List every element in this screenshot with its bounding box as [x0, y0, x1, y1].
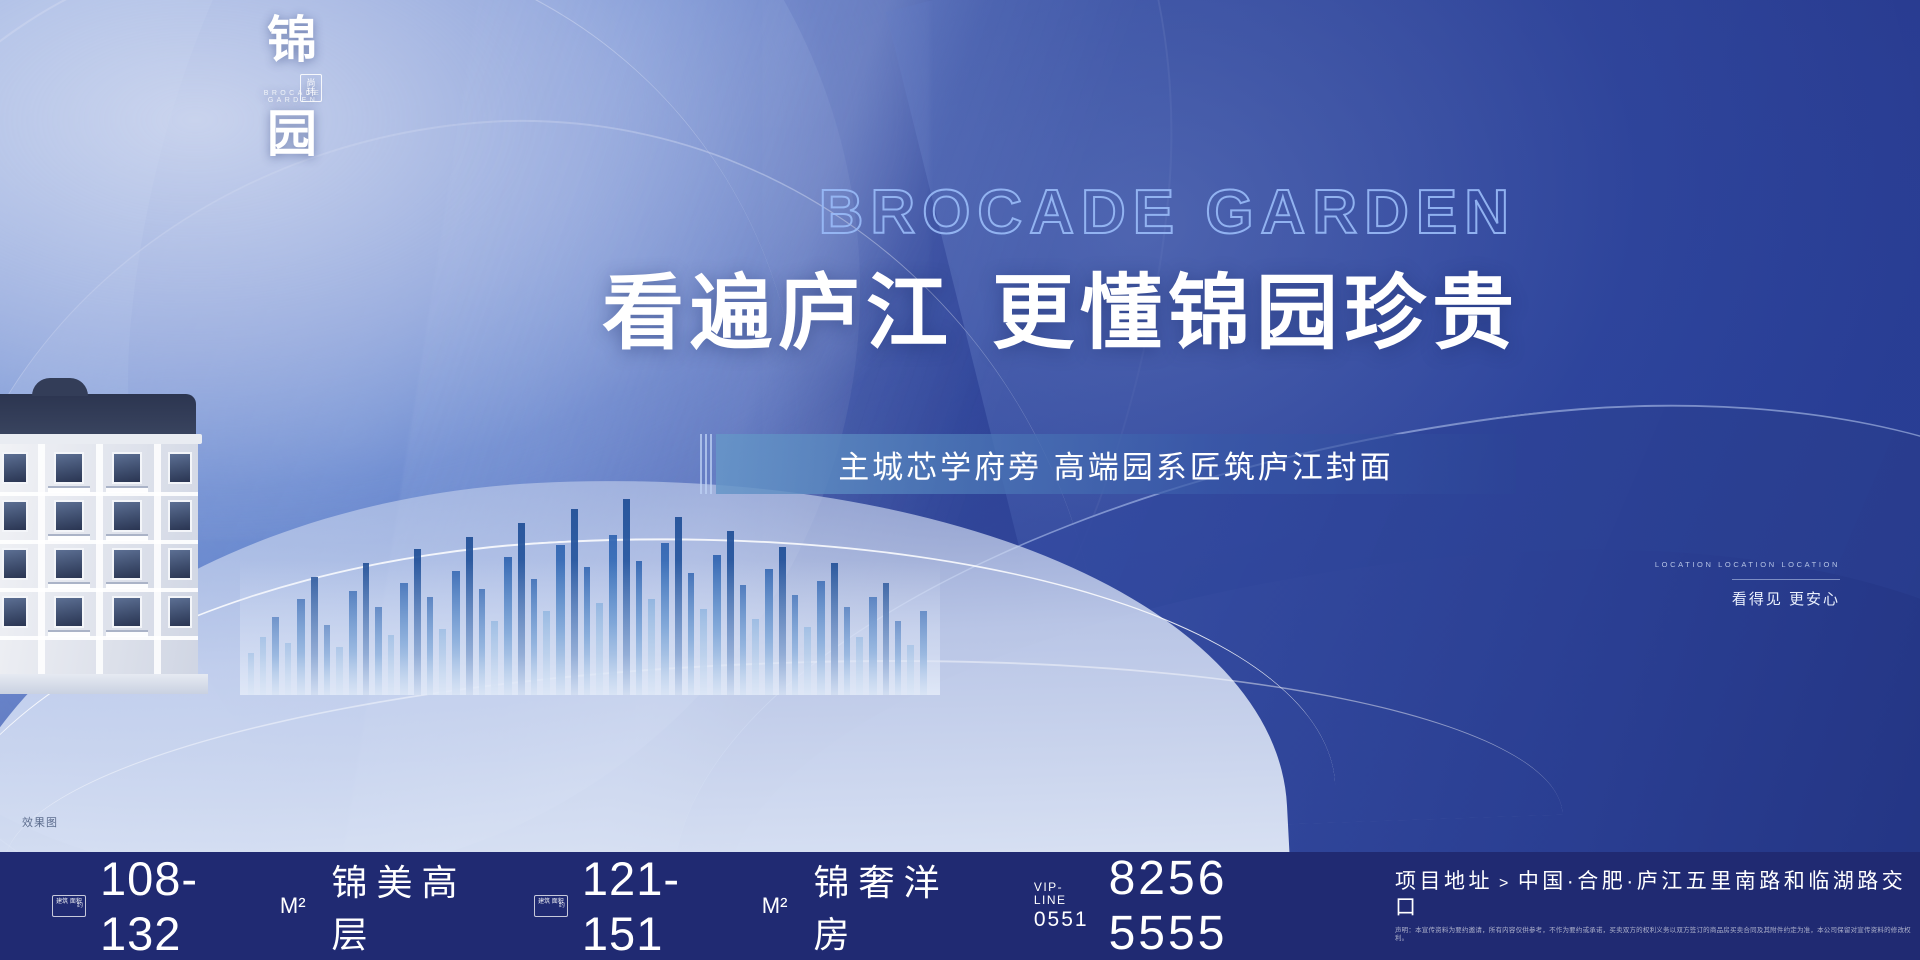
area-badge-line1-a: 建筑	[56, 899, 68, 905]
address-line: 项目地址>中国·合肥·庐江五里南路和临湖路交口	[1395, 869, 1920, 922]
building-window	[168, 452, 192, 484]
building-window	[54, 596, 84, 628]
hero-text-block: BROCADE GARDEN 看遍庐江更懂锦园珍贵	[470, 182, 1520, 363]
building-floor-line	[0, 492, 198, 496]
area-badge-approx-b: 约	[559, 903, 565, 911]
building-window	[112, 500, 142, 532]
building-balcony	[106, 582, 148, 589]
area-unit-b: M²	[762, 893, 788, 919]
subtitle-ticks-decoration	[700, 434, 714, 494]
billboard-poster: 锦 尚 玮 BROCADE GARDEN 园 BROCADE GARDEN 看遍…	[0, 0, 1920, 960]
hero-headline: 看遍庐江更懂锦园珍贵	[470, 266, 1520, 363]
legal-disclaimer: 声明：本宣传资料为要约邀请，所有内容仅供参考，不作为要约或承诺，买卖双方的权利义…	[1395, 927, 1920, 943]
building-window	[112, 548, 142, 580]
building-window	[2, 596, 28, 628]
building-floor-line	[0, 636, 198, 640]
building-illustration	[0, 394, 260, 694]
building-cornice	[0, 434, 202, 444]
address-label: 项目地址	[1395, 870, 1493, 893]
building-window	[2, 500, 28, 532]
building-base	[0, 674, 208, 694]
product-name-a: 锦美高层	[332, 854, 508, 958]
seal-stamp-icon: 尚 玮	[300, 74, 322, 102]
area-badge-icon-b: 建筑 面积 约	[534, 895, 568, 917]
footer-bar: 建筑 面积 约 108-132 M² 锦美高层 建筑 面积 约 121-151 …	[0, 852, 1920, 960]
building-balcony	[48, 582, 90, 589]
building-window	[112, 596, 142, 628]
area-value-a: 108-132	[100, 851, 276, 960]
building-floor-line	[0, 588, 198, 592]
building-window	[54, 500, 84, 532]
chevron-right-icon: >	[1499, 875, 1512, 892]
building-balcony	[106, 534, 148, 541]
area-badge-icon-a: 建筑 面积 约	[52, 895, 86, 917]
area-badge-line1-b: 建筑	[538, 899, 550, 905]
tagline-english: LOCATION LOCATION LOCATION	[1580, 560, 1840, 569]
building-window	[168, 596, 192, 628]
phone-part-2: 5555	[1109, 907, 1228, 960]
area-badge-approx-a: 约	[77, 903, 83, 911]
building-window	[168, 548, 192, 580]
rendering-disclaimer-note: 效果图	[22, 814, 58, 830]
city-skyline	[240, 470, 940, 695]
building-floor-line	[0, 540, 198, 544]
vip-area-code: 0551	[1034, 908, 1095, 931]
building-window	[168, 500, 192, 532]
headline-segment-1: 看遍庐江	[602, 268, 954, 359]
address-block: 项目地址>中国·合肥·庐江五里南路和临湖路交口 声明：本宣传资料为要约邀请，所有…	[1395, 869, 1920, 944]
vip-line-label: VIP-LINE	[1034, 881, 1095, 907]
building-roof	[0, 394, 196, 436]
seal-line-2: 玮	[301, 88, 321, 97]
footer-content: 建筑 面积 约 108-132 M² 锦美高层 建筑 面积 约 121-151 …	[0, 851, 1920, 960]
building-window	[2, 452, 28, 484]
building-window	[54, 548, 84, 580]
location-tagline: LOCATION LOCATION LOCATION 看得见 更安心	[1580, 560, 1840, 609]
tagline-chinese: 看得见 更安心	[1732, 579, 1840, 609]
phone-part-1: 8256	[1109, 852, 1228, 905]
hero-english-title: BROCADE GARDEN	[470, 182, 1520, 244]
logo-subtitle-en: BROCADE GARDEN	[238, 90, 348, 104]
building-balcony	[48, 534, 90, 541]
logo-char-top: 锦	[238, 14, 348, 66]
logo-seal-row: 尚 玮	[238, 66, 348, 88]
building-window	[2, 548, 28, 580]
subtitle-banner: 主城芯学府旁 高端园系匠筑庐江封面	[716, 434, 1516, 494]
building-balcony	[106, 486, 148, 493]
building-column	[154, 444, 161, 694]
building-window	[112, 452, 142, 484]
phone-number[interactable]: 82565555	[1109, 851, 1361, 960]
building-column	[38, 444, 45, 694]
area-value-b: 121-151	[582, 851, 758, 960]
building-balcony	[48, 486, 90, 493]
building-window	[54, 452, 84, 484]
logo-char-bottom: 园	[238, 108, 348, 160]
building-column	[96, 444, 103, 694]
area-unit-a: M²	[280, 893, 306, 919]
product-name-b: 锦奢洋房	[813, 854, 989, 958]
headline-segment-2: 更懂锦园珍贵	[992, 268, 1520, 359]
subtitle-text: 主城芯学府旁 高端园系匠筑庐江封面	[838, 442, 1394, 487]
vip-line-block: VIP-LINE 0551	[1034, 881, 1095, 930]
brand-logo[interactable]: 锦 尚 玮 BROCADE GARDEN 园	[238, 14, 348, 160]
building-balcony	[48, 630, 90, 637]
building-balcony	[106, 630, 148, 637]
